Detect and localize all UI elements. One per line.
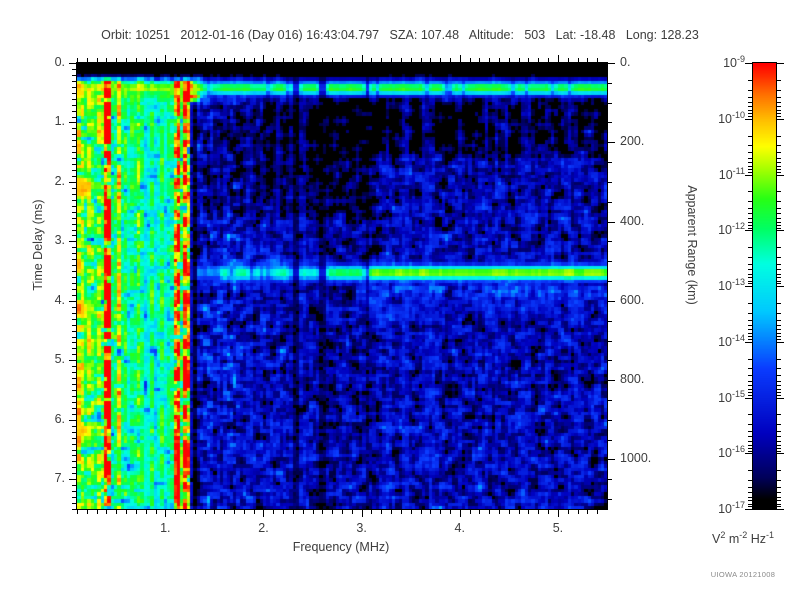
colorbar-label-exponent: -16 [732, 444, 745, 454]
colorbar-major-tick-left [745, 175, 753, 176]
y-left-minor-tick [72, 69, 77, 70]
x-minor-tick-top [283, 58, 284, 63]
colorbar-minor-tick-left [748, 136, 753, 137]
y-right-tick-label: 1000. [620, 451, 680, 465]
y-left-minor-tick [72, 337, 77, 338]
colorbar-minor-tick-right [776, 451, 781, 452]
colorbar-minor-tick-right [776, 325, 781, 326]
y-left-minor-tick [72, 277, 77, 278]
y-left-major-tick [69, 360, 77, 361]
y-right-minor-tick [607, 341, 612, 342]
x-minor-tick-top [234, 58, 235, 63]
colorbar-minor-tick-left [748, 441, 753, 442]
y-left-major-tick [69, 63, 77, 64]
y-left-minor-tick [72, 432, 77, 433]
colorbar-minor-tick-left [748, 208, 753, 209]
colorbar-minor-tick-left [748, 375, 753, 376]
x-minor-tick [322, 509, 323, 514]
y-left-minor-tick [72, 253, 77, 254]
x-minor-tick-top [597, 58, 598, 63]
x-major-tick-top [558, 55, 559, 63]
colorbar-minor-tick-left [748, 329, 753, 330]
radargram-plot-area [76, 62, 608, 510]
x-minor-tick [97, 509, 98, 514]
y-left-minor-tick [72, 503, 77, 504]
x-tick-label: 4. [438, 521, 482, 535]
colorbar-major-tick-right [776, 175, 784, 176]
colorbar-minor-tick-left [748, 303, 753, 304]
colorbar-label-exponent: -12 [732, 221, 745, 231]
colorbar-label-mantissa: 10 [719, 168, 733, 182]
y-right-major-tick [607, 459, 615, 460]
colorbar-minor-tick-right [776, 172, 781, 173]
colorbar-minor-tick-left [748, 436, 753, 437]
x-minor-tick [411, 509, 412, 514]
colorbar-tick-label: 10-11 [687, 166, 745, 182]
x-minor-tick [77, 509, 78, 514]
y-left-minor-tick [72, 450, 77, 451]
x-minor-tick-top [371, 58, 372, 63]
x-minor-tick-top [146, 58, 147, 63]
x-minor-tick-top [87, 58, 88, 63]
y-right-minor-tick [607, 360, 612, 361]
y-left-minor-tick [72, 271, 77, 272]
y-right-major-tick [607, 222, 615, 223]
y-left-minor-tick [72, 378, 77, 379]
y-left-minor-tick [72, 111, 77, 112]
y-left-minor-tick [72, 259, 77, 260]
colorbar-minor-tick-left [748, 80, 753, 81]
x-major-tick-top [165, 55, 166, 63]
x-minor-tick-top [224, 58, 225, 63]
y-right-minor-tick [607, 420, 612, 421]
x-minor-tick [421, 509, 422, 514]
colorbar-minor-tick-right [776, 480, 781, 481]
x-minor-tick-top [401, 58, 402, 63]
x-minor-tick-top [538, 58, 539, 63]
colorbar-minor-tick-left [748, 222, 753, 223]
colorbar-major-tick-right [776, 342, 784, 343]
colorbar-minor-tick-right [776, 492, 781, 493]
y-right-minor-tick [607, 202, 612, 203]
x-minor-tick-top [587, 58, 588, 63]
x-minor-tick [244, 509, 245, 514]
colorbar-label-exponent: -17 [732, 500, 745, 510]
colorbar-units-label: V2 m-2 Hz-1 [686, 530, 800, 546]
y-right-minor-tick [607, 241, 612, 242]
y-left-minor-tick [72, 467, 77, 468]
colorbar-minor-tick-left [748, 497, 753, 498]
colorbar-minor-tick-left [748, 506, 753, 507]
colorbar-minor-tick-right [776, 431, 781, 432]
colorbar-major-tick-right [776, 63, 784, 64]
colorbar-minor-tick-left [748, 500, 753, 501]
colorbar-minor-tick-left [748, 152, 753, 153]
y-left-minor-tick [72, 473, 77, 474]
y-left-minor-tick [72, 170, 77, 171]
colorbar-minor-tick-right [776, 213, 781, 214]
x-minor-tick-top [391, 58, 392, 63]
colorbar-minor-tick-right [776, 110, 781, 111]
colorbar-minor-tick-left [748, 451, 753, 452]
x-minor-tick [401, 509, 402, 514]
colorbar-minor-tick-right [776, 152, 781, 153]
colorbar-minor-tick-right [776, 329, 781, 330]
colorbar-minor-tick-right [776, 274, 781, 275]
colorbar-minor-tick-right [776, 339, 781, 340]
x-minor-tick [430, 509, 431, 514]
x-minor-tick-top [116, 58, 117, 63]
x-minor-tick [293, 509, 294, 514]
x-axis-title: Frequency (MHz) [0, 540, 682, 554]
y-left-minor-tick [72, 265, 77, 266]
colorbar-minor-tick-left [748, 113, 753, 114]
y-right-minor-tick [607, 440, 612, 441]
x-minor-tick-top [470, 58, 471, 63]
units-hz-exp: -1 [766, 530, 774, 540]
y-left-minor-tick [72, 354, 77, 355]
x-minor-tick [106, 509, 107, 514]
y-right-minor-tick [607, 162, 612, 163]
y-left-minor-tick [72, 461, 77, 462]
colorbar-minor-tick-left [748, 191, 753, 192]
colorbar-minor-tick-left [748, 90, 753, 91]
colorbar-minor-tick-right [776, 470, 781, 471]
x-minor-tick [597, 509, 598, 514]
x-minor-tick-top [578, 58, 579, 63]
x-minor-tick [87, 509, 88, 514]
x-minor-tick [489, 509, 490, 514]
y-left-minor-tick [72, 212, 77, 213]
x-minor-tick-top [156, 58, 157, 63]
y-left-minor-tick [72, 414, 77, 415]
y-left-minor-tick [72, 396, 77, 397]
colorbar-minor-tick-left [748, 106, 753, 107]
y-right-minor-tick [607, 182, 612, 183]
x-tick-label: 5. [536, 521, 580, 535]
y-left-minor-tick [72, 200, 77, 201]
colorbar-minor-tick-right [776, 116, 781, 117]
x-minor-tick [538, 509, 539, 514]
x-minor-tick-top [548, 58, 549, 63]
x-major-tick [460, 509, 461, 517]
x-major-tick [165, 509, 166, 517]
y-left-major-tick [69, 182, 77, 183]
colorbar-minor-tick-right [776, 113, 781, 114]
colorbar-minor-tick-left [748, 172, 753, 173]
x-minor-tick [234, 509, 235, 514]
x-major-tick-top [460, 55, 461, 63]
colorbar-minor-tick-right [776, 222, 781, 223]
colorbar-major-tick-left [745, 230, 753, 231]
x-minor-tick-top [126, 58, 127, 63]
colorbar-minor-tick-left [748, 225, 753, 226]
colorbar-label-mantissa: 10 [718, 223, 732, 237]
x-minor-tick-top [195, 58, 196, 63]
y-left-minor-tick [72, 491, 77, 492]
x-minor-tick-top [313, 58, 314, 63]
colorbar-tick-label: 10-17 [687, 500, 745, 516]
y-right-minor-tick [607, 103, 612, 104]
colorbar-minor-tick-left [748, 218, 753, 219]
colorbar-minor-tick-left [748, 320, 753, 321]
y-right-tick-label: 0. [620, 55, 680, 69]
colorbar-major-tick-left [745, 398, 753, 399]
x-minor-tick-top [528, 58, 529, 63]
figure-header: Orbit: 10251 2012-01-16 (Day 016) 16:43:… [0, 28, 800, 42]
x-minor-tick [479, 509, 480, 514]
colorbar-minor-tick-left [748, 213, 753, 214]
x-minor-tick [156, 509, 157, 514]
x-minor-tick [342, 509, 343, 514]
x-minor-tick-top [303, 58, 304, 63]
x-minor-tick-top [205, 58, 206, 63]
colorbar-minor-tick-right [776, 277, 781, 278]
x-minor-tick [224, 509, 225, 514]
colorbar-label-mantissa: 10 [723, 56, 737, 70]
x-minor-tick [371, 509, 372, 514]
colorbar-major-tick-left [745, 119, 753, 120]
y-right-major-tick [607, 142, 615, 143]
x-minor-tick [391, 509, 392, 514]
colorbar-minor-tick-right [776, 504, 781, 505]
y-left-minor-tick [72, 325, 77, 326]
colorbar-minor-tick-left [748, 492, 753, 493]
colorbar-minor-tick-left [748, 359, 753, 360]
colorbar-tick-label: 10-16 [687, 444, 745, 460]
x-minor-tick-top [499, 58, 500, 63]
colorbar-minor-tick-right [776, 283, 781, 284]
colorbar-minor-tick-left [748, 274, 753, 275]
y-left-minor-tick [72, 331, 77, 332]
radargram-figure: Orbit: 10251 2012-01-16 (Day 016) 16:43:… [0, 0, 800, 600]
colorbar-label-mantissa: 10 [718, 279, 732, 293]
colorbar-tick-label: 10-12 [687, 221, 745, 237]
colorbar-minor-tick-right [776, 158, 781, 159]
colorbar-label-exponent: -11 [733, 166, 745, 176]
colorbar-major-tick-left [745, 453, 753, 454]
x-minor-tick [381, 509, 382, 514]
colorbar-label-mantissa: 10 [718, 446, 732, 460]
colorbar-minor-tick-left [748, 281, 753, 282]
colorbar-label-mantissa: 10 [718, 391, 732, 405]
colorbar-minor-tick-left [748, 166, 753, 167]
colorbar-minor-tick-left [748, 269, 753, 270]
y-right-minor-tick [607, 261, 612, 262]
x-minor-tick-top [273, 58, 274, 63]
x-minor-tick [136, 509, 137, 514]
colorbar-minor-tick-right [776, 136, 781, 137]
y-left-major-tick [69, 122, 77, 123]
x-minor-tick-top [489, 58, 490, 63]
y-left-minor-tick [72, 438, 77, 439]
y-left-minor-tick [72, 444, 77, 445]
colorbar-minor-tick-left [748, 201, 753, 202]
y-left-minor-tick [72, 117, 77, 118]
x-minor-tick-top [479, 58, 480, 63]
y-axis-title-left: Time Delay (ms) [31, 145, 45, 345]
y-left-minor-tick [72, 372, 77, 373]
x-minor-tick [499, 509, 500, 514]
x-minor-tick-top [440, 58, 441, 63]
units-m: m [729, 532, 739, 546]
colorbar-minor-tick-right [776, 385, 781, 386]
y-left-minor-tick [72, 497, 77, 498]
y-right-major-tick [607, 380, 615, 381]
y-right-tick-label: 800. [620, 372, 680, 386]
y-right-minor-tick [607, 479, 612, 480]
colorbar-minor-tick-left [748, 162, 753, 163]
colorbar-minor-tick-left [748, 325, 753, 326]
y-left-minor-tick [72, 390, 77, 391]
y-left-major-tick [69, 301, 77, 302]
y-left-tick-label: 1. [13, 114, 65, 128]
colorbar-minor-tick-left [748, 277, 753, 278]
y-left-minor-tick [72, 455, 77, 456]
x-minor-tick [578, 509, 579, 514]
colorbar-minor-tick-right [776, 359, 781, 360]
colorbar-minor-tick-left [748, 257, 753, 258]
x-minor-tick [509, 509, 510, 514]
x-tick-label: 2. [241, 521, 285, 535]
colorbar-minor-tick-right [776, 269, 781, 270]
colorbar-label-mantissa: 10 [718, 502, 732, 516]
y-left-minor-tick [72, 348, 77, 349]
colorbar-minor-tick-right [776, 441, 781, 442]
colorbar-minor-tick-left [748, 424, 753, 425]
colorbar-tick-label: 10-10 [687, 110, 745, 126]
colorbar-minor-tick-left [748, 487, 753, 488]
colorbar-minor-tick-right [776, 80, 781, 81]
units-v-exp: 2 [720, 530, 725, 540]
colorbar-minor-tick-left [748, 448, 753, 449]
colorbar-minor-tick-left [748, 228, 753, 229]
y-left-minor-tick [72, 408, 77, 409]
y-left-tick-label: 7. [13, 471, 65, 485]
x-minor-tick-top [381, 58, 382, 63]
colorbar-gradient [753, 63, 776, 509]
y-left-minor-tick [72, 146, 77, 147]
x-tick-label: 3. [340, 521, 384, 535]
x-minor-tick [273, 509, 274, 514]
colorbar-minor-tick-left [748, 313, 753, 314]
colorbar-minor-tick-right [776, 500, 781, 501]
colorbar-minor-tick-right [776, 336, 781, 337]
y-left-major-tick [69, 241, 77, 242]
x-tick-label: 1. [143, 521, 187, 535]
colorbar-minor-tick-right [776, 208, 781, 209]
colorbar-minor-tick-left [748, 339, 753, 340]
x-minor-tick-top [185, 58, 186, 63]
colorbar-minor-tick-left [748, 480, 753, 481]
colorbar-minor-tick-right [776, 166, 781, 167]
colorbar-minor-tick-right [776, 106, 781, 107]
colorbar-minor-tick-right [776, 225, 781, 226]
colorbar-minor-tick-right [776, 281, 781, 282]
x-minor-tick-top [509, 58, 510, 63]
x-minor-tick-top [411, 58, 412, 63]
colorbar-minor-tick-left [748, 97, 753, 98]
x-minor-tick [283, 509, 284, 514]
x-minor-tick [313, 509, 314, 514]
radargram-heatmap-canvas [77, 63, 607, 509]
y-left-minor-tick [72, 87, 77, 88]
x-minor-tick [175, 509, 176, 514]
y-left-minor-tick [72, 206, 77, 207]
x-minor-tick [332, 509, 333, 514]
x-minor-tick [440, 509, 441, 514]
colorbar-minor-tick-left [748, 389, 753, 390]
y-left-minor-tick [72, 295, 77, 296]
colorbar-major-tick-right [776, 453, 784, 454]
y-left-minor-tick [72, 93, 77, 94]
y-left-minor-tick [72, 289, 77, 290]
colorbar-minor-tick-right [776, 90, 781, 91]
colorbar-minor-tick-left [748, 504, 753, 505]
colorbar-minor-tick-left [748, 392, 753, 393]
x-minor-tick-top [77, 58, 78, 63]
colorbar-label-exponent: -10 [732, 110, 745, 120]
colorbar-major-tick-left [745, 342, 753, 343]
x-minor-tick [528, 509, 529, 514]
colorbar-major-tick-left [745, 63, 753, 64]
x-minor-tick [254, 509, 255, 514]
colorbar-minor-tick-right [776, 303, 781, 304]
units-m-exp: -2 [739, 530, 747, 540]
colorbar-minor-tick-right [776, 333, 781, 334]
x-minor-tick-top [450, 58, 451, 63]
colorbar-minor-tick-right [776, 424, 781, 425]
colorbar-label-exponent: -14 [732, 333, 745, 343]
colorbar-minor-tick-left [748, 368, 753, 369]
y-left-minor-tick [72, 152, 77, 153]
y-left-minor-tick [72, 426, 77, 427]
y-right-minor-tick [607, 83, 612, 84]
y-right-tick-label: 200. [620, 134, 680, 148]
x-minor-tick [126, 509, 127, 514]
colorbar-minor-tick-right [776, 169, 781, 170]
x-minor-tick [146, 509, 147, 514]
colorbar-tick-label: 10-9 [687, 54, 745, 70]
y-left-minor-tick [72, 384, 77, 385]
x-minor-tick-top [332, 58, 333, 63]
x-minor-tick-top [322, 58, 323, 63]
colorbar-minor-tick-right [776, 191, 781, 192]
colorbar-minor-tick-right [776, 381, 781, 382]
colorbar-major-tick-left [745, 286, 753, 287]
colorbar-minor-tick-right [776, 487, 781, 488]
x-minor-tick [587, 509, 588, 514]
colorbar-minor-tick-left [748, 385, 753, 386]
y-left-minor-tick [72, 247, 77, 248]
y-left-major-tick [69, 479, 77, 480]
y-right-minor-tick [607, 499, 612, 500]
colorbar-minor-tick-right [776, 201, 781, 202]
y-right-major-tick [607, 301, 615, 302]
y-left-minor-tick [72, 230, 77, 231]
x-minor-tick-top [106, 58, 107, 63]
x-minor-tick-top [568, 58, 569, 63]
x-minor-tick [519, 509, 520, 514]
colorbar-minor-tick-right [776, 497, 781, 498]
y-left-minor-tick [72, 313, 77, 314]
colorbar-minor-tick-right [776, 436, 781, 437]
x-major-tick [263, 509, 264, 517]
colorbar-minor-tick-left [748, 470, 753, 471]
colorbar-minor-tick-right [776, 414, 781, 415]
x-minor-tick [205, 509, 206, 514]
y-left-minor-tick [72, 366, 77, 367]
